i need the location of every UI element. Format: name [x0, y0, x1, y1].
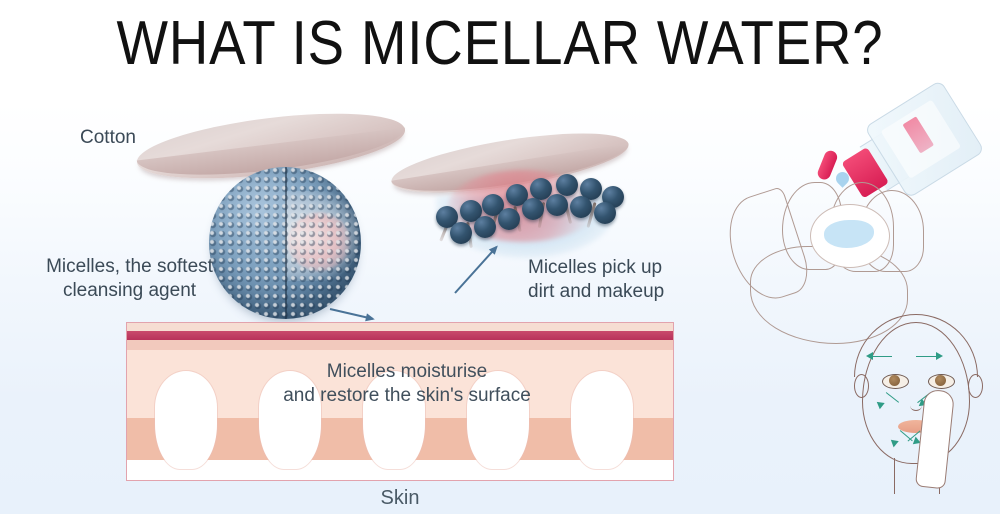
label-skin: Skin	[300, 486, 500, 510]
label-cotton: Cotton	[80, 126, 136, 150]
skin-follicle	[155, 371, 217, 469]
face-diagram-icon	[838, 312, 1000, 514]
label-micelles-moisturise: Micelles moisturise and restore the skin…	[242, 360, 572, 408]
direction-line	[916, 356, 938, 357]
ear-right	[968, 374, 983, 398]
micelle-head	[498, 208, 520, 230]
label-micelles-softest: Micelles, the softest cleansing agent	[22, 255, 237, 303]
micelle-head	[594, 202, 616, 224]
micelle-head	[546, 194, 568, 216]
direction-arrow-icon	[866, 352, 873, 360]
direction-arrow-icon	[936, 352, 943, 360]
skin-surface-band	[127, 323, 673, 331]
skin-dirt-stripe	[127, 331, 673, 340]
micelle-head	[474, 216, 496, 238]
micelle-head	[556, 174, 578, 196]
iris-right	[935, 375, 946, 386]
micelle-head	[570, 196, 592, 218]
micelle-seam	[285, 167, 287, 319]
micelle-cluster-icon	[420, 150, 635, 265]
page-title: WHAT IS MICELLAR WATER?	[60, 8, 940, 80]
micelle-head	[522, 198, 544, 220]
iris-left	[889, 375, 900, 386]
skin-follicle	[571, 371, 633, 469]
micelle-head	[450, 222, 472, 244]
ear-left	[854, 374, 869, 398]
direction-line	[870, 356, 892, 357]
infographic-canvas: WHAT IS MICELLAR WATER?	[0, 0, 1000, 514]
label-micelles-pickup: Micelles pick up dirt and makeup	[528, 256, 728, 304]
skin-under-band	[127, 340, 673, 350]
